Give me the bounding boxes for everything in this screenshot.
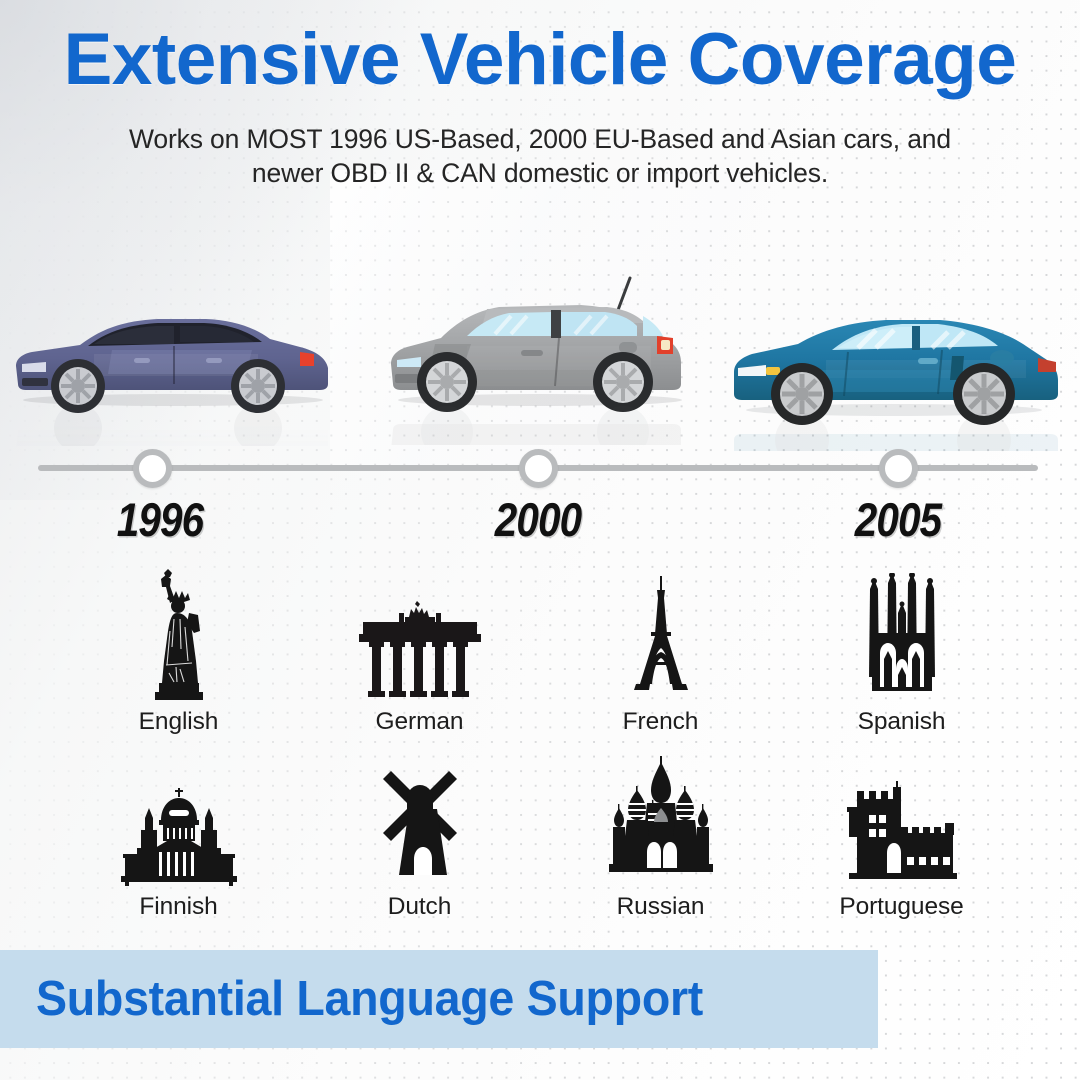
coverage-timeline: 1996 2000 2005 (0, 440, 1080, 550)
sedan-car-illustration (8, 296, 338, 446)
hatchback-front-wheel (417, 352, 477, 412)
language-label-russian: Russian (617, 892, 705, 922)
language-item-russian: Russian (540, 737, 781, 922)
timeline-node-1996[interactable] (133, 449, 172, 488)
language-label-portuguese: Portuguese (839, 892, 963, 922)
hatchback-car-icon (375, 270, 705, 445)
banner-title: Substantial Language Support (36, 969, 703, 1029)
language-label-spanish: Spanish (858, 707, 946, 737)
language-support-banner: Substantial Language Support (0, 950, 878, 1048)
brandenburg-gate-icon (357, 569, 483, 701)
helsinki-cathedral-icon (121, 754, 237, 886)
timeline-year-1996: 1996 (65, 494, 254, 546)
language-item-dutch: Dutch (299, 737, 540, 922)
hatchback-car-illustration (375, 270, 705, 445)
subtitle-line-1: Works on MOST 1996 US-Based, 2000 EU-Bas… (18, 122, 1062, 156)
page-subtitle: Works on MOST 1996 US-Based, 2000 EU-Bas… (0, 122, 1080, 190)
language-label-german: German (376, 707, 464, 737)
hatchback-rear-wheel (593, 352, 653, 412)
statue-of-liberty-icon (140, 569, 218, 701)
language-label-dutch: Dutch (388, 892, 452, 922)
language-item-german: German (299, 552, 540, 737)
sagrada-familia-icon (858, 569, 946, 701)
windmill-icon (367, 754, 473, 886)
sedan-car-icon (8, 296, 338, 446)
language-label-french: French (623, 707, 699, 737)
language-item-spanish: Spanish (781, 552, 1022, 737)
language-item-portuguese: Portuguese (781, 737, 1022, 922)
language-label-finnish: Finnish (139, 892, 217, 922)
language-item-french: French (540, 552, 781, 737)
eiffel-tower-icon (620, 569, 702, 701)
timeline-year-2000: 2000 (443, 494, 632, 546)
coupe-car-illustration (726, 306, 1066, 451)
infographic-page: Extensive Vehicle Coverage Works on MOST… (0, 0, 1080, 1080)
timeline-year-2005: 2005 (803, 494, 992, 546)
subtitle-line-2: newer OBD II & CAN domestic or import ve… (18, 156, 1062, 190)
timeline-node-2000[interactable] (519, 449, 558, 488)
saint-basils-cathedral-icon (597, 754, 725, 886)
language-item-english: English (58, 552, 299, 737)
vehicle-illustrations (0, 258, 1080, 448)
language-label-english: English (139, 707, 219, 737)
timeline-node-2005[interactable] (879, 449, 918, 488)
language-item-finnish: Finnish (58, 737, 299, 922)
page-title: Extensive Vehicle Coverage (0, 16, 1080, 104)
language-grid: English (58, 552, 1022, 922)
coupe-car-icon (726, 306, 1066, 451)
belem-tower-icon (843, 754, 961, 886)
